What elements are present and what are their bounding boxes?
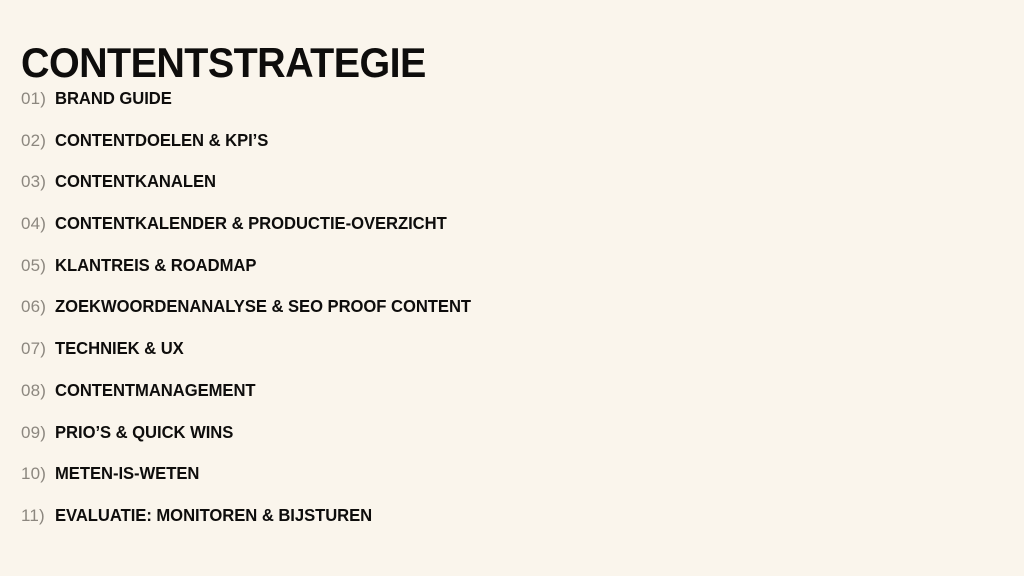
page-title: CONTENTSTRATEGIE <box>21 40 426 86</box>
agenda-item[interactable]: 03)CONTENTKANALEN <box>21 171 1001 213</box>
agenda-item-label: EVALUATIE: MONITOREN & BIJSTUREN <box>55 505 372 525</box>
agenda-item[interactable]: 06)ZOEKWOORDENANALYSE & SEO PROOF CONTEN… <box>21 296 1001 338</box>
slide-canvas: CONTENTSTRATEGIE 01)BRAND GUIDE02)CONTEN… <box>0 0 1024 576</box>
agenda-item[interactable]: 05)KLANTREIS & ROADMAP <box>21 255 1001 297</box>
agenda-item-number: 03) <box>21 172 55 192</box>
agenda-item-number: 01) <box>21 89 55 109</box>
agenda-item-label: METEN-IS-WETEN <box>55 463 199 483</box>
agenda-item-label: BRAND GUIDE <box>55 88 172 108</box>
agenda-list: 01)BRAND GUIDE02)CONTENTDOELEN & KPI’S03… <box>21 88 1001 547</box>
agenda-item-label: CONTENTMANAGEMENT <box>55 380 256 400</box>
agenda-item-number: 04) <box>21 214 55 234</box>
agenda-item-label: PRIO’S & QUICK WINS <box>55 422 233 442</box>
agenda-item-number: 11) <box>21 506 55 526</box>
agenda-item-label: CONTENTDOELEN & KPI’S <box>55 130 268 150</box>
agenda-item-number: 07) <box>21 339 55 359</box>
agenda-item-number: 06) <box>21 297 55 317</box>
agenda-item-number: 02) <box>21 131 55 151</box>
agenda-item-label: KLANTREIS & ROADMAP <box>55 255 256 275</box>
agenda-item-label: ZOEKWOORDENANALYSE & SEO PROOF CONTENT <box>55 296 471 316</box>
agenda-item[interactable]: 10)METEN-IS-WETEN <box>21 463 1001 505</box>
agenda-item-number: 09) <box>21 423 55 443</box>
agenda-item-number: 05) <box>21 256 55 276</box>
agenda-item-label: CONTENTKALENDER & PRODUCTIE-OVERZICHT <box>55 213 447 233</box>
agenda-item[interactable]: 07)TECHNIEK & UX <box>21 338 1001 380</box>
agenda-item-label: TECHNIEK & UX <box>55 338 184 358</box>
agenda-item[interactable]: 01)BRAND GUIDE <box>21 88 1001 130</box>
agenda-item[interactable]: 04)CONTENTKALENDER & PRODUCTIE-OVERZICHT <box>21 213 1001 255</box>
agenda-item-number: 10) <box>21 464 55 484</box>
agenda-item-label: CONTENTKANALEN <box>55 171 216 191</box>
agenda-item[interactable]: 09)PRIO’S & QUICK WINS <box>21 422 1001 464</box>
agenda-item[interactable]: 11)EVALUATIE: MONITOREN & BIJSTUREN <box>21 505 1001 547</box>
agenda-item-number: 08) <box>21 381 55 401</box>
agenda-item[interactable]: 08)CONTENTMANAGEMENT <box>21 380 1001 422</box>
agenda-item[interactable]: 02)CONTENTDOELEN & KPI’S <box>21 130 1001 172</box>
